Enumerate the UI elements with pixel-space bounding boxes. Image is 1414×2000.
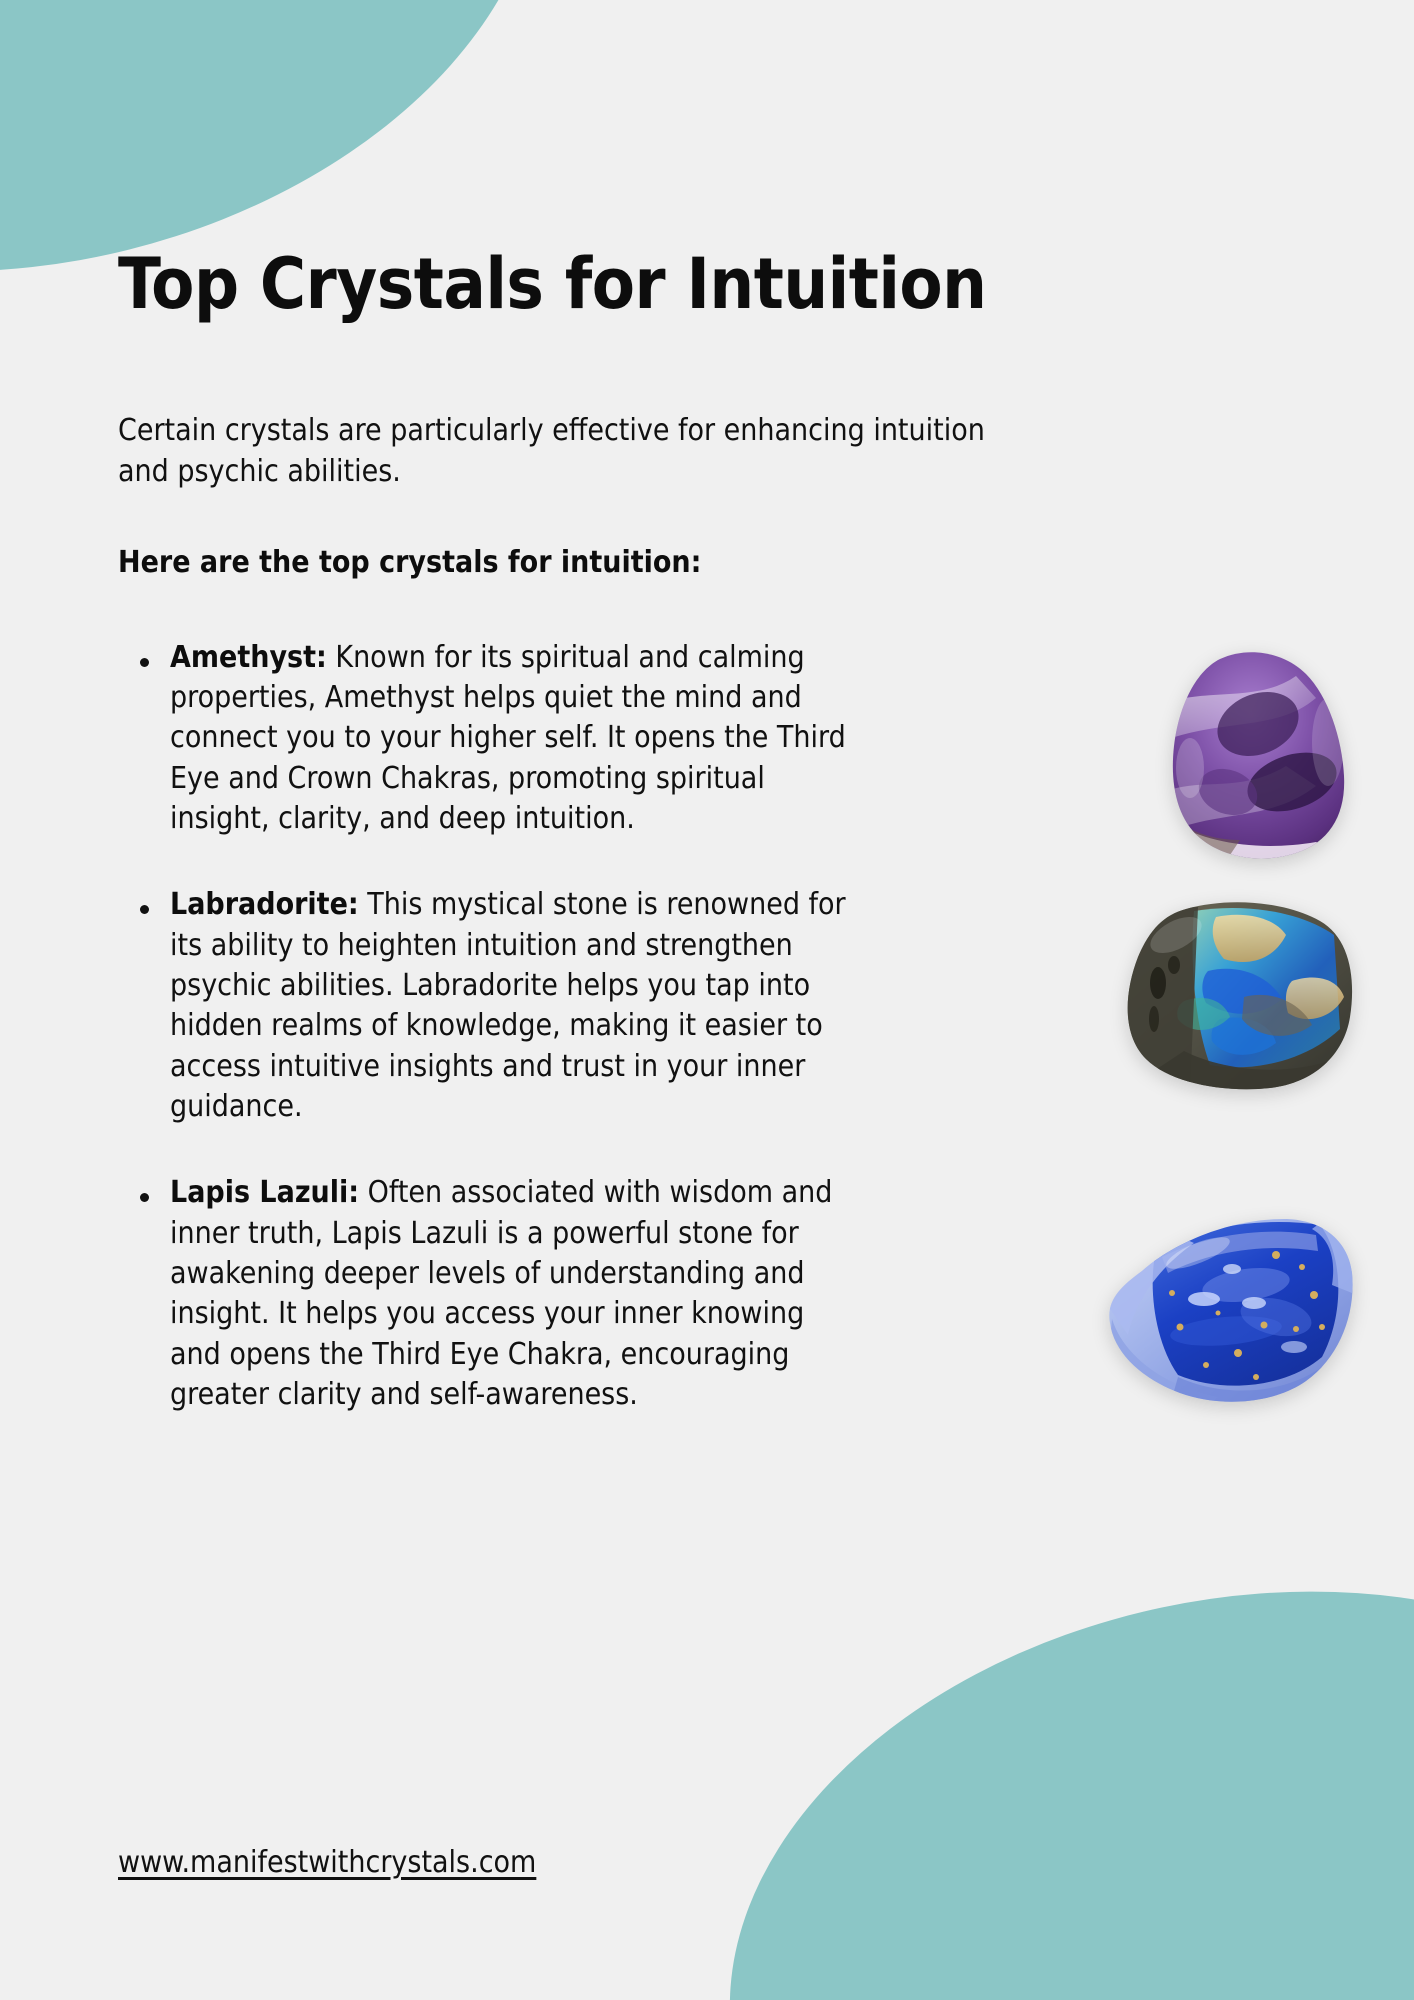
crystal-body-text: This mystical stone is renowned for its … <box>170 887 846 1124</box>
labradorite-stone-graphic <box>1124 901 1356 1091</box>
crystal-name-label: Labradorite: <box>170 887 359 922</box>
list-item: Labradorite: This mystical stone is reno… <box>118 885 1296 1127</box>
poster-content: Top Crystals for Intuition Certain cryst… <box>0 0 1414 1415</box>
amethyst-stone-graphic <box>1166 646 1356 861</box>
crystal-body-text: Often associated with wisdom and inner t… <box>170 1175 832 1412</box>
bullet-marker <box>118 638 170 671</box>
list-item: Amethyst: Known for its spiritual and ca… <box>118 638 1296 840</box>
labradorite-stone-image <box>1124 901 1356 1091</box>
crystal-description: Lapis Lazuli: Often associated with wisd… <box>170 1173 860 1415</box>
footer-website-link[interactable]: www.manifestwithcrystals.com <box>118 1845 536 1880</box>
lapis-lazuli-stone-image <box>1106 1207 1356 1407</box>
crystal-list: Amethyst: Known for its spiritual and ca… <box>118 638 1296 1416</box>
crystal-name-label: Amethyst: <box>170 640 327 675</box>
lapis-lazuli-stone-graphic <box>1106 1207 1356 1407</box>
lead-in-heading: Here are the top crystals for intuition: <box>118 545 1296 580</box>
bullet-marker <box>118 885 170 918</box>
crystal-name-label: Lapis Lazuli: <box>170 1175 359 1210</box>
crystal-description: Labradorite: This mystical stone is reno… <box>170 885 860 1127</box>
bullet-marker <box>118 1173 170 1206</box>
intro-paragraph: Certain crystals are particularly effect… <box>118 410 1018 493</box>
crystal-description: Amethyst: Known for its spiritual and ca… <box>170 638 860 840</box>
bullet-dot-icon <box>140 658 149 667</box>
list-item: Lapis Lazuli: Often associated with wisd… <box>118 1173 1296 1415</box>
bullet-dot-icon <box>140 1193 149 1202</box>
bullet-dot-icon <box>140 905 149 914</box>
page-title: Top Crystals for Intuition <box>118 0 1296 321</box>
poster-page: Top Crystals for Intuition Certain cryst… <box>0 0 1414 2000</box>
amethyst-stone-image <box>1166 646 1356 861</box>
decorative-teal-blob-bottom-right <box>662 1502 1414 2000</box>
